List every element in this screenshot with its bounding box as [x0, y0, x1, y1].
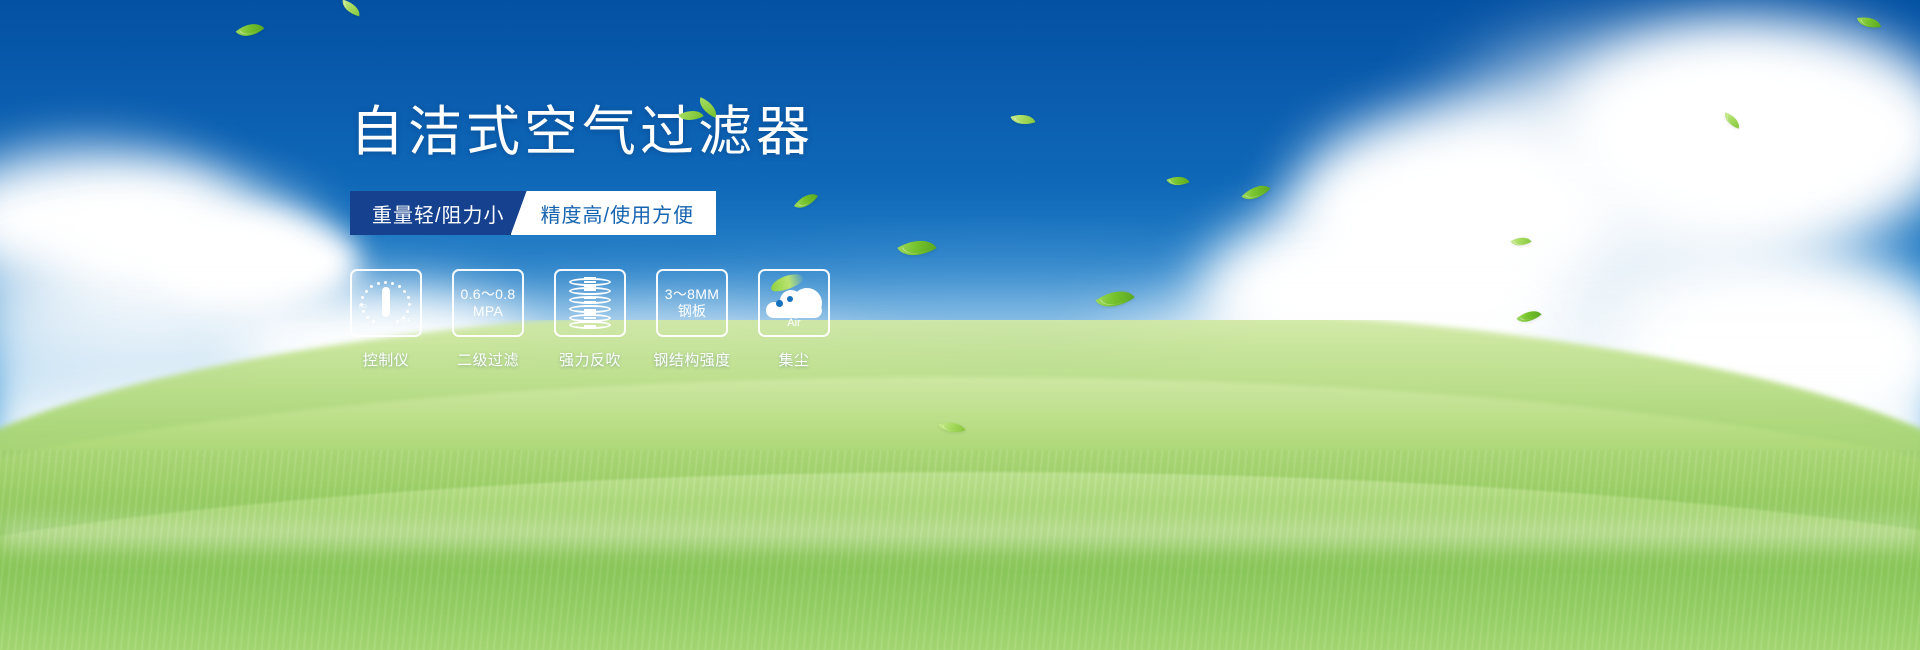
dial-off-label: OFF [400, 318, 411, 324]
feature-item-dust-collection[interactable]: Air 集尘 [758, 269, 830, 370]
feature-label-two-stage-filter: 二级过滤 [457, 349, 519, 370]
feature-box-air: Air [758, 269, 830, 337]
air-cloud-icon: Air [764, 280, 824, 326]
tab-label-1: 重量轻/阻力小 [372, 199, 505, 228]
steel-plate-text: 钢板 [678, 303, 707, 321]
product-banner: 自洁式空气过滤器 重量轻/阻力小 精度高/使用方便 [0, 0, 1920, 650]
pressure-value-text: 0.6～0.8 [460, 286, 515, 304]
page-title: 自洁式空气过滤器 [350, 105, 1110, 159]
banner-content: 自洁式空气过滤器 重量轻/阻力小 精度高/使用方便 [350, 105, 1110, 370]
feature-box-coil [554, 269, 626, 337]
feature-item-two-stage-filter[interactable]: 0.6～0.8 MPA 二级过滤 [452, 269, 524, 370]
feature-label-dust-collection: 集尘 [778, 349, 809, 370]
feature-tabs: 重量轻/阻力小 精度高/使用方便 [350, 191, 1110, 235]
air-text-label: Air [764, 317, 824, 329]
feature-item-steel-strength[interactable]: 3～8MM 钢板 钢结构强度 [656, 269, 728, 370]
steel-thickness-text: 3～8MM [665, 286, 719, 304]
leaf-sprig-icon [680, 99, 726, 133]
feature-label-strong-backblow: 强力反吹 [559, 349, 621, 370]
feature-item-controller[interactable]: NO OFF 控制仪 [350, 269, 422, 370]
tab-lightweight-low-resistance[interactable]: 重量轻/阻力小 [350, 191, 527, 235]
feature-box-pressure: 0.6～0.8 MPA [452, 269, 524, 337]
control-dial-icon: NO OFF [360, 280, 412, 326]
feature-label-steel-strength: 钢结构强度 [653, 349, 731, 370]
feature-item-strong-backblow[interactable]: 强力反吹 [554, 269, 626, 370]
grass-texture [0, 450, 1920, 650]
feature-box-controller: NO OFF [350, 269, 422, 337]
tab-label-2: 精度高/使用方便 [541, 199, 695, 228]
dial-no-label: NO [359, 304, 367, 310]
coil-filter-icon [568, 277, 612, 329]
feature-box-steel: 3～8MM 钢板 [656, 269, 728, 337]
feature-label-controller: 控制仪 [363, 349, 410, 370]
pressure-unit-text: MPA [473, 303, 503, 321]
feature-list: NO OFF 控制仪 0.6～0.8 MPA 二级过滤 [350, 269, 1110, 370]
tab-high-precision-easy-use[interactable]: 精度高/使用方便 [511, 191, 717, 235]
